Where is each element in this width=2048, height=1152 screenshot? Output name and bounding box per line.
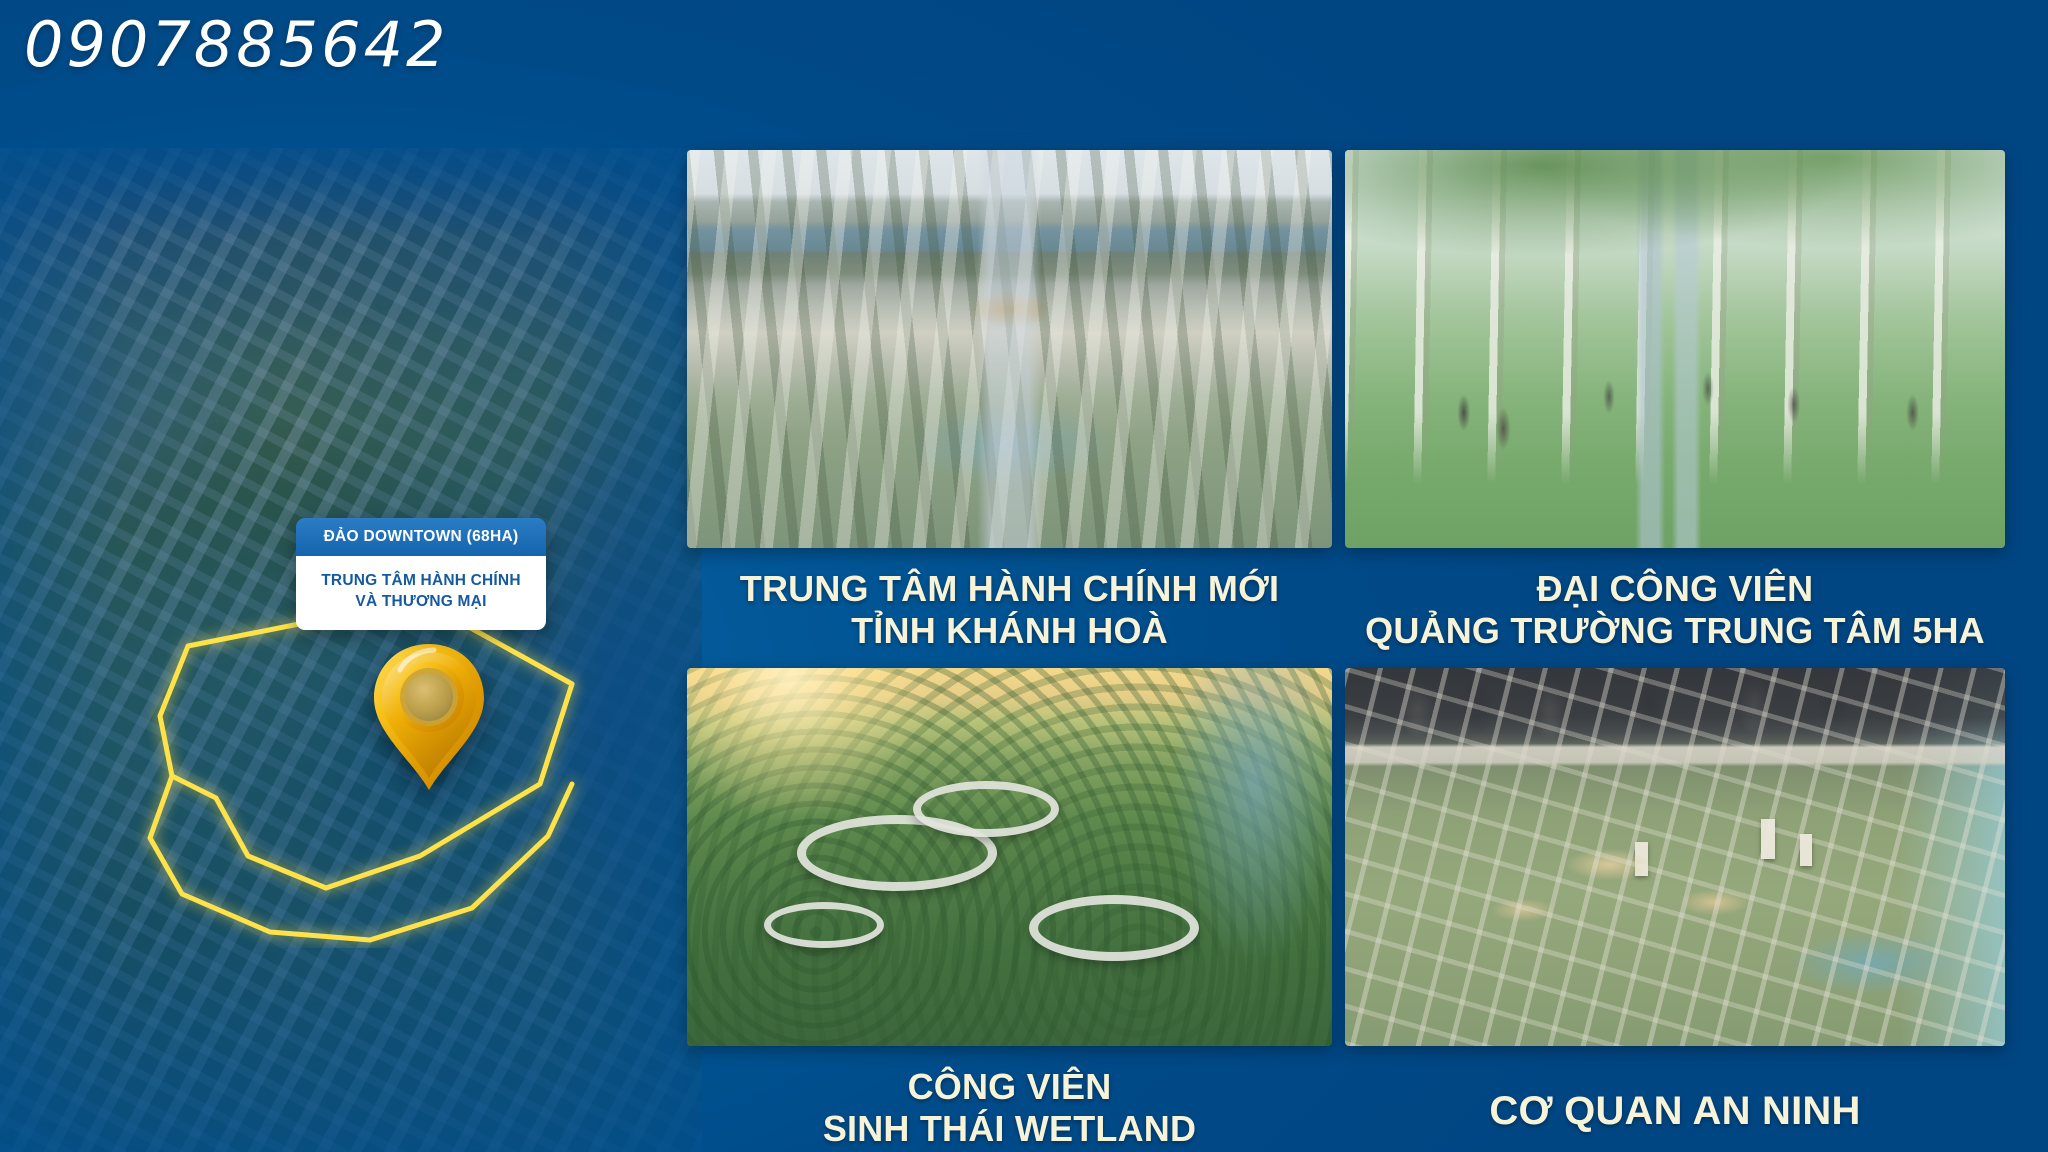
model-tower [1761,819,1775,859]
gallery-tile-admin: TRUNG TÂM HÀNH CHÍNH MỚI TỈNH KHÁNH HOÀ [687,150,1332,650]
caption-grand-park: ĐẠI CÔNG VIÊN QUẢNG TRƯỜNG TRUNG TÂM 5HA [1345,568,2005,652]
map-pin-icon [370,640,488,792]
aerial-map-panel: ĐẢO DOWNTOWN (68HA) TRUNG TÂM HÀNH CHÍNH… [0,148,702,1152]
map-callout-card: ĐẢO DOWNTOWN (68HA) TRUNG TÂM HÀNH CHÍNH… [296,518,546,630]
photo-grand-park [1345,150,2005,548]
caption-security-agency: CƠ QUAN AN NINH [1345,1088,2005,1134]
walkway-ring [1029,895,1199,961]
callout-body: TRUNG TÂM HÀNH CHÍNH VÀ THƯƠNG MẠI [296,556,546,630]
photo-wetland-park [687,668,1332,1046]
caption-line-2: QUẢNG TRƯỜNG TRUNG TÂM 5HA [1345,610,2005,652]
gallery-tile-park: ĐẠI CÔNG VIÊN QUẢNG TRƯỜNG TRUNG TÂM 5HA [1345,150,2005,650]
caption-line-2: TỈNH KHÁNH HOÀ [687,610,1332,652]
aerial-masterplan-render-icon [687,150,1332,548]
poster-canvas: ĐẢO DOWNTOWN (68HA) TRUNG TÂM HÀNH CHÍNH… [0,0,2048,1152]
walkway-ring [764,902,884,948]
wetland-eco-park-icon [687,668,1332,1046]
map-tint-overlay [0,148,702,1152]
model-tower [1635,842,1648,876]
caption-admin-center: TRUNG TÂM HÀNH CHÍNH MỚI TỈNH KHÁNH HOÀ [687,568,1332,652]
walkway-ring [913,781,1059,837]
gallery-tile-security: CƠ QUAN AN NINH [1345,668,2005,1152]
contact-phone-number: 0907885642 [24,8,448,81]
caption-line-1: ĐẠI CÔNG VIÊN [1345,568,2005,610]
caption-line-1: CÔNG VIÊN [687,1066,1332,1108]
caption-line-1: CƠ QUAN AN NINH [1345,1088,2005,1134]
photo-admin-center [687,150,1332,548]
photo-security-agency [1345,668,2005,1046]
callout-header: ĐẢO DOWNTOWN (68HA) [296,518,546,556]
model-tower [1800,834,1812,866]
caption-wetland-park: CÔNG VIÊN SINH THÁI WETLAND [687,1066,1332,1150]
caption-line-2: SINH THÁI WETLAND [687,1108,1332,1150]
park-trees-people-icon [1345,150,2005,548]
gallery-tile-wetland: CÔNG VIÊN SINH THÁI WETLAND [687,668,1332,1152]
callout-line-2: VÀ THƯƠNG MẠI [304,592,538,613]
callout-line-1: TRUNG TÂM HÀNH CHÍNH [304,571,538,592]
scale-model-showroom-icon [1345,668,2005,1046]
caption-line-1: TRUNG TÂM HÀNH CHÍNH MỚI [687,568,1332,610]
